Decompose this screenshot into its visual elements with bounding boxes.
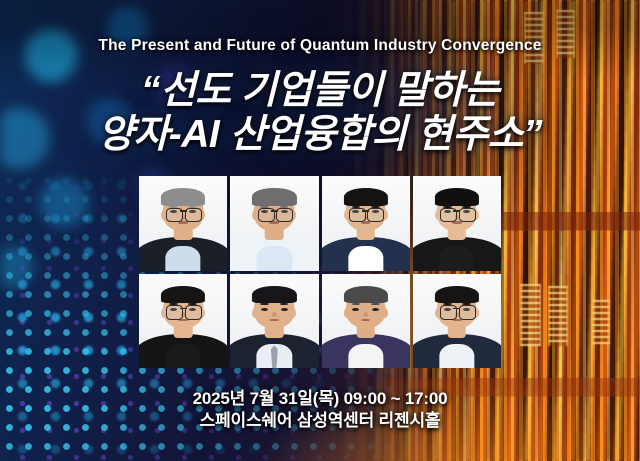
speaker-shirt xyxy=(257,246,292,270)
speaker-shirt xyxy=(439,246,474,270)
speaker-glasses xyxy=(459,305,476,319)
speaker-hair xyxy=(252,188,296,205)
speaker-glasses xyxy=(276,208,293,222)
speaker-hair xyxy=(435,188,479,205)
poster-title: “선도 기업들이 말하는 양자-AI 산업융합의 현주소” xyxy=(0,69,640,157)
speaker-glasses-bridge xyxy=(453,210,460,212)
event-poster: The Present and Future of Quantum Indust… xyxy=(0,0,640,461)
speaker-photo xyxy=(230,176,318,271)
speaker-shirt xyxy=(165,246,200,270)
speaker-glasses xyxy=(367,208,384,222)
speaker-glasses-bridge xyxy=(453,308,460,310)
speaker-photo xyxy=(139,274,227,369)
speaker-glasses xyxy=(185,208,202,222)
speaker-photo xyxy=(322,274,410,369)
speaker-photo xyxy=(413,274,501,369)
speaker-glasses xyxy=(459,208,476,222)
speaker-hair xyxy=(435,286,479,303)
speaker-hair xyxy=(344,286,388,303)
event-venue: 스페이스쉐어 삼성역센터 리젠시홀 xyxy=(0,406,640,431)
speaker-glasses-bridge xyxy=(180,210,187,212)
poster-title-line-2: 양자-AI 산업융합의 현주소” xyxy=(0,113,640,157)
speaker-photo xyxy=(322,176,410,271)
speaker-eye xyxy=(352,308,359,311)
speaker-glasses-bridge xyxy=(362,210,369,212)
speaker-eye xyxy=(281,308,288,311)
speaker-hair xyxy=(161,286,205,303)
speaker-shirt xyxy=(165,344,200,368)
speaker-photo-grid xyxy=(139,176,501,368)
speaker-shirt xyxy=(439,344,474,368)
speaker-shirt xyxy=(348,246,383,270)
poster-subtitle: The Present and Future of Quantum Indust… xyxy=(0,37,640,55)
speaker-eye xyxy=(261,308,268,311)
speaker-photo xyxy=(139,176,227,271)
speaker-eye xyxy=(372,308,379,311)
speaker-glasses-bridge xyxy=(180,308,187,310)
speaker-glasses-bridge xyxy=(271,210,278,212)
poster-title-line-1: “선도 기업들이 말하는 xyxy=(0,69,640,113)
speaker-hair xyxy=(161,188,205,205)
speaker-photo xyxy=(413,176,501,271)
speaker-hair xyxy=(252,286,296,303)
speaker-photo xyxy=(230,274,318,369)
speaker-glasses xyxy=(185,305,202,319)
speaker-shirt xyxy=(348,344,383,368)
speaker-hair xyxy=(344,188,388,205)
